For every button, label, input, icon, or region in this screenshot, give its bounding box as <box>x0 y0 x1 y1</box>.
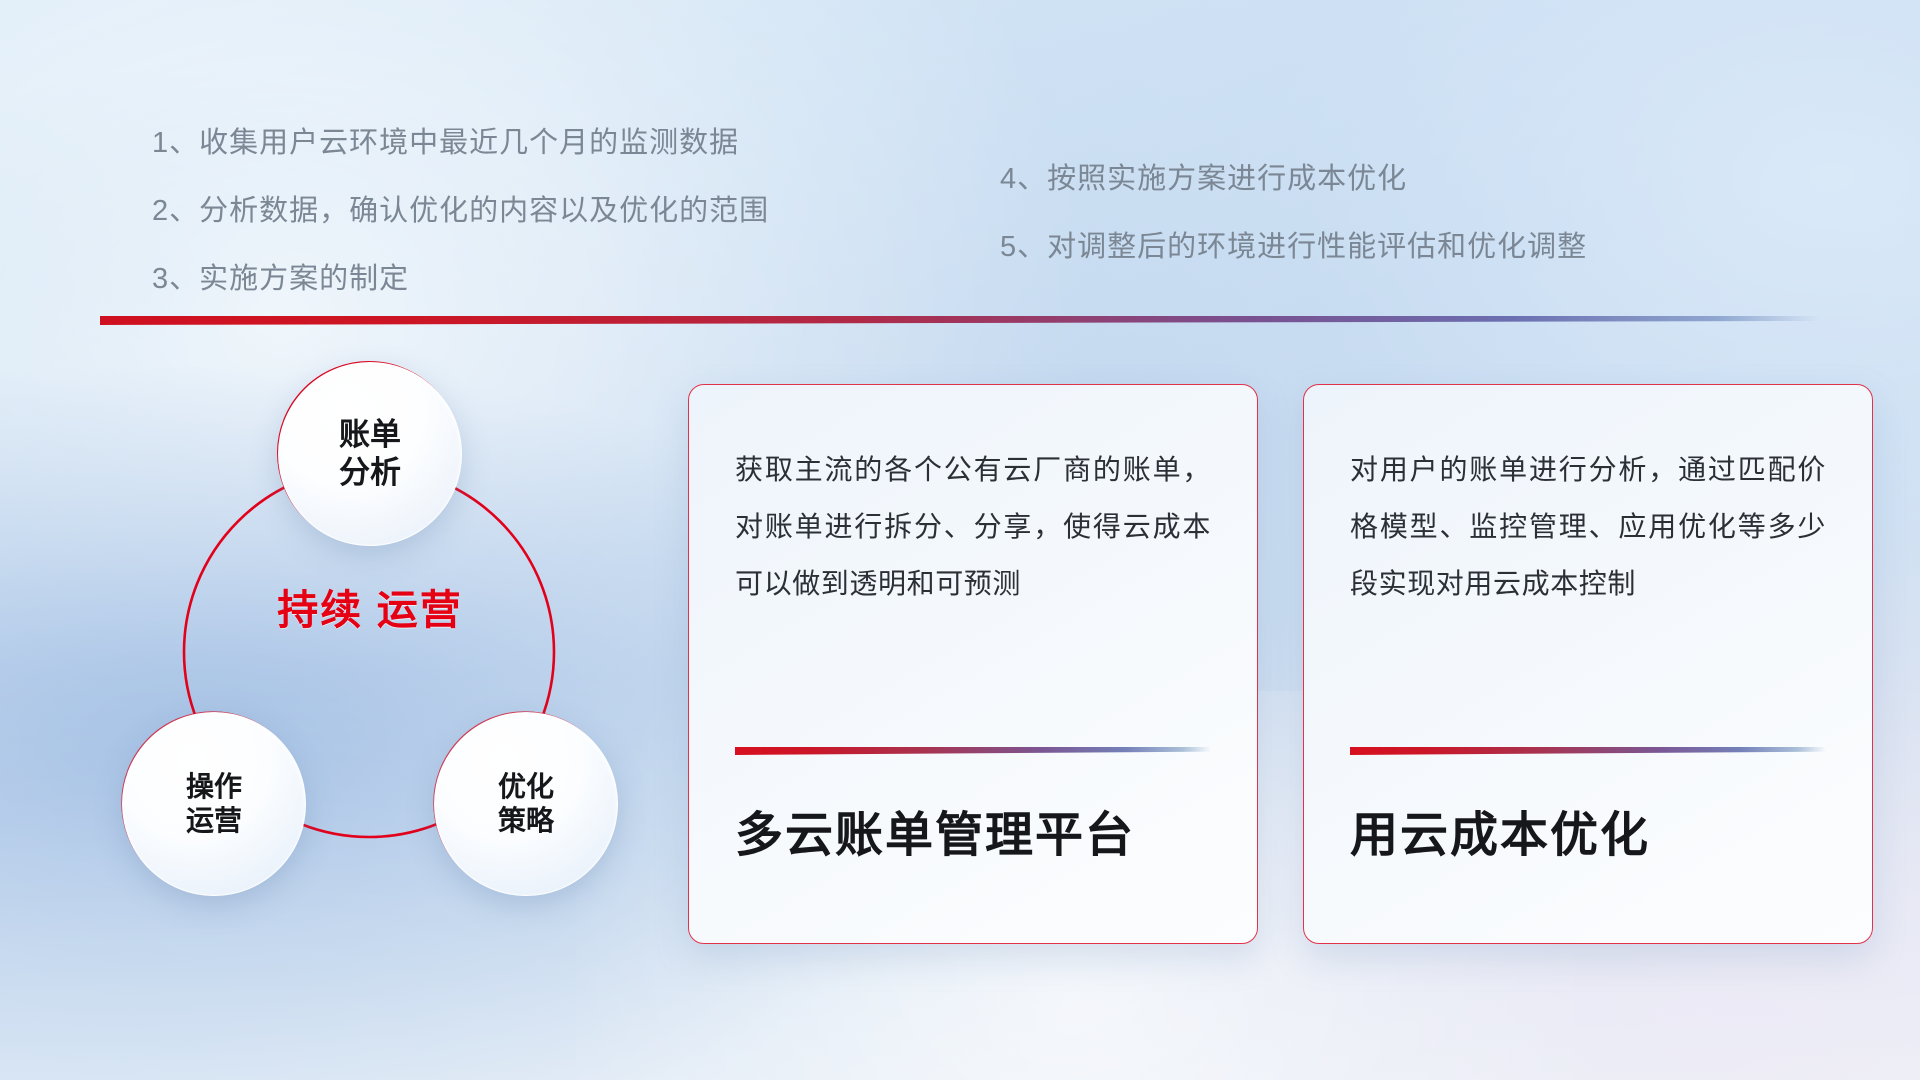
bubble-operations[interactable]: 操作 运营 <box>122 712 306 896</box>
step-item-5: 5、对调整后的环境进行性能评估和优化调整 <box>1000 223 1587 265</box>
steps-list-left: 1、收集用户云环境中最近几个月的监测数据 2、分析数据，确认优化的内容以及优化的… <box>152 119 769 323</box>
step-item-1: 1、收集用户云环境中最近几个月的监测数据 <box>152 119 769 161</box>
bubble-operations-line1: 操作 <box>186 770 242 804</box>
card-multicloud-bill-platform-body: 获取主流的各个公有云厂商的账单，对账单进行拆分、分享，使得云成本可以做到透明和可… <box>735 441 1211 612</box>
steps-list-right: 4、按照实施方案进行成本优化 5、对调整后的环境进行性能评估和优化调整 <box>1000 155 1587 291</box>
step-item-3: 3、实施方案的制定 <box>152 255 769 297</box>
card-cloud-cost-optimization-divider <box>1350 747 1826 755</box>
card-cloud-cost-optimization[interactable]: 对用户的账单进行分析，通过匹配价格模型、监控管理、应用优化等多少段实现对用云成本… <box>1303 384 1873 944</box>
section-divider-gradient <box>100 316 1820 325</box>
card-cloud-cost-optimization-title: 用云成本优化 <box>1350 795 1650 865</box>
bubble-bill-analysis-line2: 分析 <box>339 454 401 492</box>
card-cloud-cost-optimization-body: 对用户的账单进行分析，通过匹配价格模型、监控管理、应用优化等多少段实现对用云成本… <box>1350 441 1826 612</box>
card-multicloud-bill-platform[interactable]: 获取主流的各个公有云厂商的账单，对账单进行拆分、分享，使得云成本可以做到透明和可… <box>688 384 1258 944</box>
diagram-center-label: 持续 运营 <box>100 584 640 636</box>
bubble-optimization-strategy-line1: 优化 <box>498 770 554 804</box>
section-divider-rule <box>100 316 1820 325</box>
bubble-optimization-strategy-line2: 策略 <box>498 804 554 838</box>
step-item-2: 2、分析数据，确认优化的内容以及优化的范围 <box>152 187 769 229</box>
continuous-operation-diagram: 账单 分析 操作 运营 优化 策略 持续 运营 <box>100 352 640 932</box>
diagram-center-label-line2: 运营 <box>377 587 463 633</box>
bubble-bill-analysis-line1: 账单 <box>339 416 401 454</box>
card-multicloud-bill-platform-divider <box>735 747 1211 755</box>
card-multicloud-bill-platform-title: 多云账单管理平台 <box>735 795 1135 865</box>
bubble-operations-line2: 运营 <box>186 804 242 838</box>
bubble-optimization-strategy[interactable]: 优化 策略 <box>434 712 618 896</box>
step-item-4: 4、按照实施方案进行成本优化 <box>1000 155 1587 197</box>
diagram-center-label-line1: 持续 <box>277 587 363 633</box>
bubble-bill-analysis[interactable]: 账单 分析 <box>278 362 462 546</box>
